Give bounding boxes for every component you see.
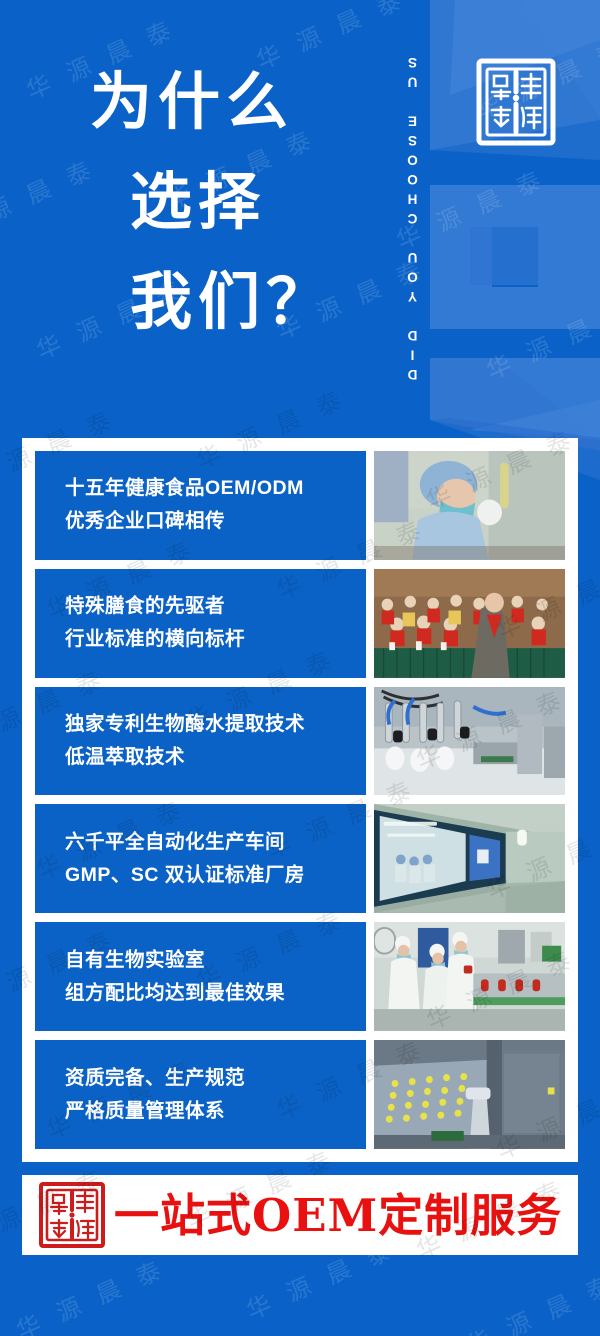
feature-line: 组方配比均达到最佳效果 — [65, 977, 366, 1010]
feature-row[interactable]: 独家专利生物酶水提取技术 低温萃取技术 — [35, 687, 565, 796]
vertical-subtitle-english: DID YOU CHOOSE US — [405, 24, 431, 409]
feature-line: 优秀企业口碑相传 — [65, 505, 366, 538]
feature-text-4: 六千平全自动化生产车间 GMP、SC 双认证标准厂房 — [35, 804, 366, 913]
title-line-3: 我们？ — [90, 252, 390, 352]
brand-seal-icon — [470, 52, 562, 152]
brand-red-seal-icon — [36, 1179, 108, 1251]
feature-row[interactable]: 特殊膳食的先驱者 行业标准的横向标杆 — [35, 569, 565, 678]
feature-photo-cleanroom-corridor — [374, 804, 565, 913]
feature-text-6: 资质完备、生产规范 严格质量管理体系 — [35, 1040, 366, 1149]
feature-row[interactable]: 十五年健康食品OEM/ODM 优秀企业口碑相传 — [35, 451, 565, 560]
feature-row[interactable]: 资质完备、生产规范 严格质量管理体系 — [35, 1040, 565, 1149]
feature-line: 十五年健康食品OEM/ODM — [65, 472, 366, 505]
feature-line: 独家专利生物酶水提取技术 — [65, 708, 366, 741]
title-line-1: 为什么 — [90, 52, 390, 152]
features-panel: 十五年健康食品OEM/ODM 优秀企业口碑相传 — [22, 438, 578, 1162]
title-line-2: 选择 — [90, 152, 390, 252]
watermark-text: 华 源 晨 泰 — [10, 1249, 171, 1336]
feature-photo-conference-audience — [374, 569, 565, 678]
feature-line: GMP、SC 双认证标准厂房 — [65, 859, 366, 892]
feature-line: 严格质量管理体系 — [65, 1095, 366, 1128]
feature-text-5: 自有生物实验室 组方配比均达到最佳效果 — [35, 922, 366, 1031]
feature-text-1: 十五年健康食品OEM/ODM 优秀企业口碑相传 — [35, 451, 366, 560]
poster-root: 华 源 晨 泰 华 源 晨 泰 华 源 晨 泰 华 源 晨 泰 华 源 晨 泰 … — [0, 0, 600, 1336]
poster-header: 为什么 选择 我们？ DID YOU CHOOSE US — [0, 0, 600, 438]
page-title: 为什么 选择 我们？ — [90, 52, 390, 352]
bottom-banner[interactable]: 一站式OEM定制服务 — [22, 1175, 578, 1255]
feature-photo-filling-line — [374, 687, 565, 796]
feature-photo-lab-workers — [374, 922, 565, 1031]
feature-line: 自有生物实验室 — [65, 944, 366, 977]
watermark-text: 华 源 晨 泰 — [460, 1264, 600, 1336]
feature-photo-lab-technician — [374, 451, 565, 560]
feature-line: 行业标准的横向标杆 — [65, 623, 366, 656]
feature-line: 资质完备、生产规范 — [65, 1062, 366, 1095]
feature-text-2: 特殊膳食的先驱者 行业标准的横向标杆 — [35, 569, 366, 678]
feature-row[interactable]: 自有生物实验室 组方配比均达到最佳效果 — [35, 922, 565, 1031]
feature-line: 低温萃取技术 — [65, 741, 366, 774]
feature-row[interactable]: 六千平全自动化生产车间 GMP、SC 双认证标准厂房 — [35, 804, 565, 913]
feature-text-3: 独家专利生物酶水提取技术 低温萃取技术 — [35, 687, 366, 796]
feature-line: 六千平全自动化生产车间 — [65, 826, 366, 859]
feature-photo-blister-packing — [374, 1040, 565, 1149]
banner-slogan: 一站式OEM定制服务 — [114, 1193, 562, 1238]
feature-line: 特殊膳食的先驱者 — [65, 590, 366, 623]
